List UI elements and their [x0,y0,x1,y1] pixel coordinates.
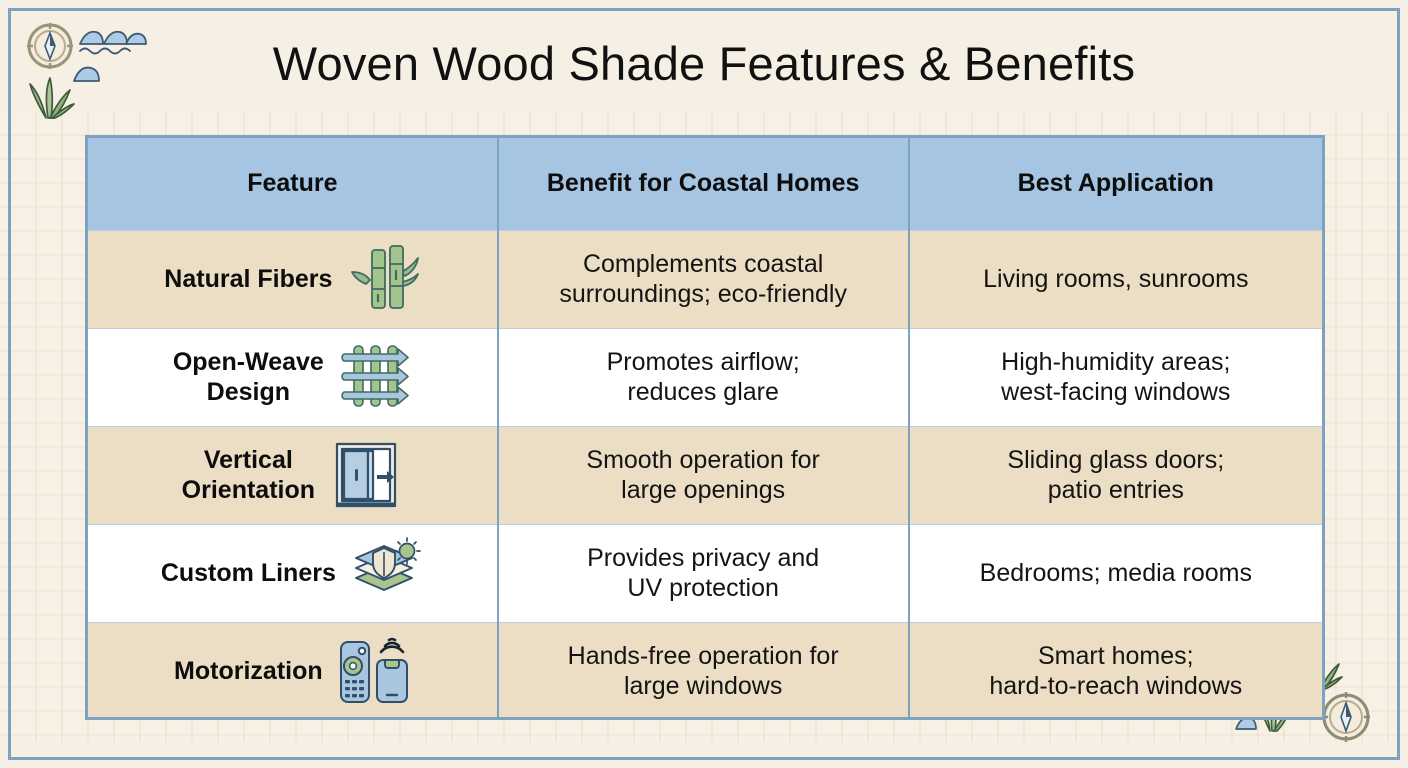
feature-line: Orientation [182,475,315,505]
cell-feature: Custom Liners [88,524,498,622]
application-line: Sliding glass doors; [924,445,1308,476]
cell-feature: Motorization [88,622,498,720]
cell-application: Smart homes; hard-to-reach windows [909,622,1322,720]
table-row: Motorization [88,622,1322,720]
cell-benefit: Promotes airflow; reduces glare [498,328,909,426]
feature-label: Open-Weave Design [173,347,324,407]
cell-application: High-humidity areas; west-facing windows [909,328,1322,426]
page-title: Woven Wood Shade Features & Benefits [0,36,1408,91]
compass-icon [1322,692,1370,742]
feature-line: Open-Weave [173,347,324,377]
layers-shield-sun-icon [350,536,424,610]
table-row: Open-Weave Design [88,328,1322,426]
application-line: Bedrooms; media rooms [924,558,1308,589]
benefit-line: Hands-free operation for [513,641,894,672]
features-table: Feature Benefit for Coastal Homes Best A… [88,138,1322,720]
cell-benefit: Provides privacy and UV protection [498,524,909,622]
remote-phone-icon [337,634,411,708]
benefit-line: Smooth operation for [513,445,894,476]
feature-label: Custom Liners [161,558,336,588]
feature-line: Vertical [182,445,315,475]
cell-feature: Natural Fibers [88,230,498,328]
column-header-benefit: Benefit for Coastal Homes [498,138,909,230]
poster-canvas: Woven Wood Shade Features & Benefits Fea… [0,0,1408,768]
benefit-line: surroundings; eco-friendly [513,279,894,310]
table-header-row: Feature Benefit for Coastal Homes Best A… [88,138,1322,230]
cell-application: Sliding glass doors; patio entries [909,426,1322,524]
benefit-line: Provides privacy and [513,543,894,574]
cell-feature: Open-Weave Design [88,328,498,426]
feature-label: Vertical Orientation [182,445,315,505]
texture-mask-bottom [0,742,1408,768]
application-line: Living rooms, sunrooms [924,264,1308,295]
features-table-container: Feature Benefit for Coastal Homes Best A… [85,135,1325,720]
cell-benefit: Smooth operation for large openings [498,426,909,524]
cell-feature: Vertical Orientation [88,426,498,524]
bamboo-icon [346,242,420,316]
weave-grid-icon [338,340,412,414]
benefit-line: UV protection [513,573,894,604]
column-header-feature: Feature [88,138,498,230]
application-line: High-humidity areas; [924,347,1308,378]
application-line: patio entries [924,475,1308,506]
table-row: Custom Liners [88,524,1322,622]
feature-line: Design [173,377,324,407]
cell-application: Living rooms, sunrooms [909,230,1322,328]
benefit-line: Promotes airflow; [513,347,894,378]
application-line: Smart homes; [924,641,1308,672]
column-header-application: Best Application [909,138,1322,230]
cell-benefit: Hands-free operation for large windows [498,622,909,720]
application-line: west-facing windows [924,377,1308,408]
feature-label: Motorization [174,656,323,686]
benefit-line: reduces glare [513,377,894,408]
benefit-line: Complements coastal [513,249,894,280]
application-line: hard-to-reach windows [924,671,1308,702]
benefit-line: large openings [513,475,894,506]
table-row: Vertical Orientation [88,426,1322,524]
benefit-line: large windows [513,671,894,702]
table-row: Natural Fibers [88,230,1322,328]
cell-benefit: Complements coastal surroundings; eco-fr… [498,230,909,328]
cell-application: Bedrooms; media rooms [909,524,1322,622]
sliding-door-icon [329,438,403,512]
feature-label: Natural Fibers [164,264,332,294]
